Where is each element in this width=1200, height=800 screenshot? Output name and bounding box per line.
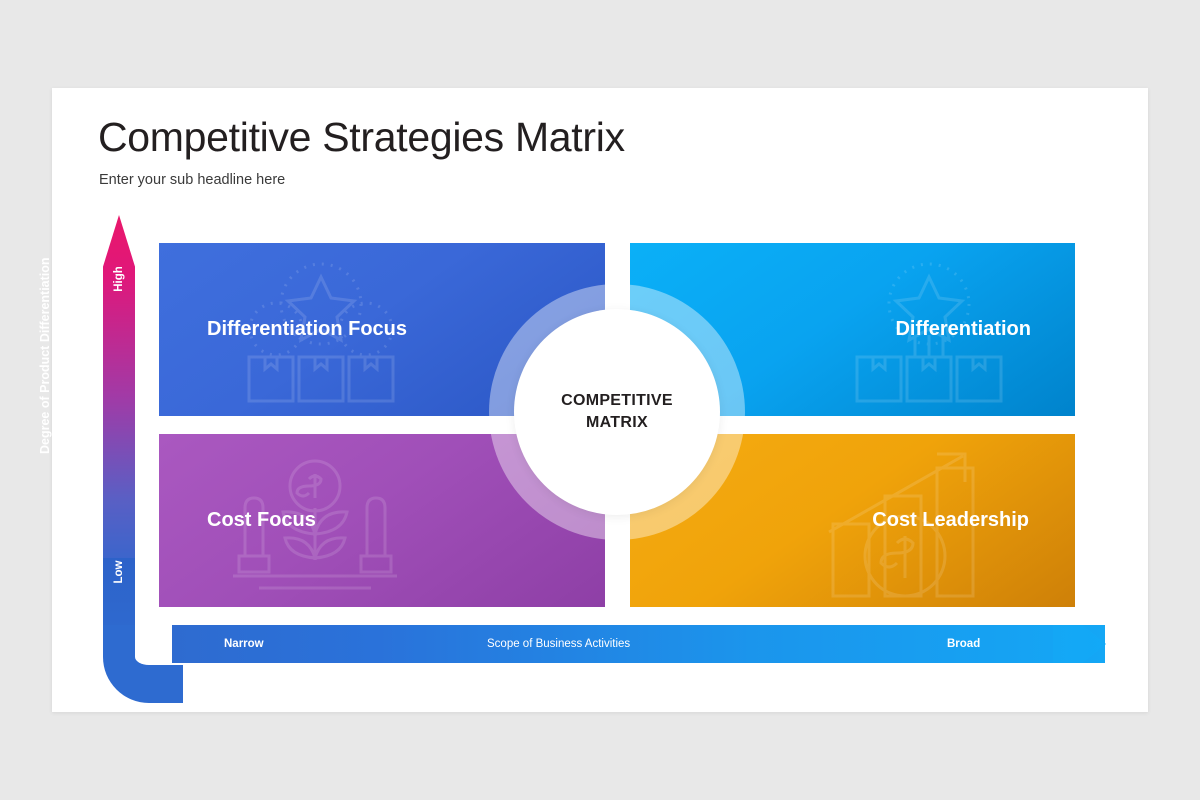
horizontal-axis-broad-label: Broad [947, 625, 980, 663]
page-subtitle: Enter your sub headline here [99, 172, 285, 188]
quadrant-label: Cost Focus [207, 509, 316, 532]
vertical-axis-low-label: Low [113, 556, 125, 588]
quadrant-label: Differentiation Focus [207, 318, 407, 341]
center-line-2: MATRIX [586, 414, 648, 431]
axis-corner-joint [103, 625, 183, 703]
quadrant-label: Cost Leadership [872, 509, 1029, 532]
quadrant-label: Differentiation [895, 318, 1031, 341]
horizontal-axis-title: Scope of Business Activities [487, 625, 630, 663]
horizontal-axis-narrow-label: Narrow [224, 625, 264, 663]
center-line-1: COMPETITIVE [561, 392, 673, 409]
vertical-axis-high-label: High [113, 263, 125, 295]
slide-canvas: Competitive Strategies Matrix Enter your… [52, 88, 1148, 712]
center-circle-label: COMPETITIVE MATRIX [561, 390, 673, 433]
page-title: Competitive Strategies Matrix [98, 114, 625, 161]
center-circle[interactable]: COMPETITIVE MATRIX [514, 309, 720, 515]
